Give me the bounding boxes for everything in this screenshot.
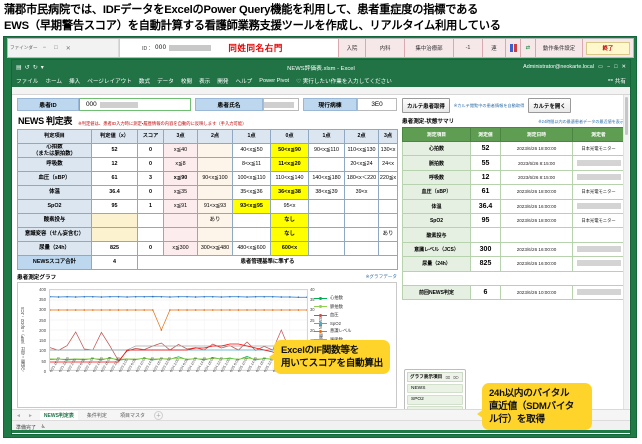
ribbon-tabs: ファイル ホーム 挿入 ページレイアウト 数式 データ 校閲 表示 開発 ヘルプ… xyxy=(12,74,630,87)
summary-cell-datetime: 2023/6/26 18:00:00 xyxy=(501,142,573,156)
summary-cell-datetime: 2023/6/26 8:15:00 xyxy=(501,156,573,170)
legend-label: 血圧 xyxy=(330,312,339,318)
callout-vitals-text: 24h以内のバイタル 直近値（SDMバイタ ル行）を取得 xyxy=(489,388,574,425)
window-close-icon[interactable]: ✕ xyxy=(621,64,626,70)
summary-table-row: 前回NEWS判定62023/6/26 10:00:00 xyxy=(403,285,625,299)
y-tick-left: 300 xyxy=(28,307,46,312)
news-cell-t3b[interactable]: あり xyxy=(379,228,398,242)
settings-button[interactable]: 動作条件設定 xyxy=(536,39,583,57)
news-cell-t2a[interactable]: あり xyxy=(198,214,233,228)
news-table-title-row: NEWS 判定表 ※判定値は、患者ID入力時に測定・履歴情報の内容を自動的に反映… xyxy=(18,114,397,127)
news-cell-t3b[interactable]: 24<x xyxy=(379,158,398,172)
summary-cell-source xyxy=(573,285,625,299)
news-cell-value[interactable]: 95 xyxy=(92,200,138,214)
news-cell-item[interactable]: 呼吸数 xyxy=(18,158,92,172)
masked-source xyxy=(577,246,621,252)
y-tick-left: 150 xyxy=(28,338,46,343)
news-judgement-table: 判定項目 判定値（x） スコア 3点 2点 1点 0点 1点 2点 3点 心拍数… xyxy=(17,129,398,270)
ribbon-tab-page-layout[interactable]: ページレイアウト xyxy=(87,77,132,85)
summary-cell-source xyxy=(573,199,625,213)
news-cell-t3a[interactable]: x≦90 xyxy=(164,172,198,186)
col-3pt-low: 3点 xyxy=(164,130,198,144)
window-restore-icon[interactable]: □ xyxy=(614,64,617,70)
color-swatch-icon xyxy=(506,39,521,57)
patient-id-cell-label: 患者ID xyxy=(17,98,79,111)
titlebar-right: Administrator@neokarte.local ▭ − □ ✕ xyxy=(523,64,626,70)
field-room[interactable]: -1 xyxy=(454,39,483,57)
summary-cell-value: 55 xyxy=(471,156,501,170)
summary-cell-source xyxy=(573,170,625,184)
summary-table-row: 呼吸数122023/6/26 8:15:00 xyxy=(403,170,625,184)
news-cell-t2a[interactable]: 300<x≦480 xyxy=(198,242,233,256)
summary-cell-datetime: 2023/6/26 8:15:00 xyxy=(501,170,573,184)
headline: 蒲郡市民病院では、IDFデータをExcelのPower Query機能を利用して… xyxy=(0,0,642,35)
news-total-label: NEWSスコア合計 xyxy=(18,256,92,270)
summary-cell-datetime: 2023/6/26 16:00:00 xyxy=(501,257,573,271)
sheet-tab-master[interactable]: 項目マスタ xyxy=(116,411,149,420)
news-cell-t2a[interactable] xyxy=(198,186,233,200)
callout-formula: ExcelのIF関数等を 用いてスコアを自動算出 xyxy=(274,340,390,374)
patient-name-value: 同姓同名右門 xyxy=(228,42,283,54)
news-cell-score[interactable]: 0 xyxy=(138,144,164,158)
news-cell-value[interactable]: 12 xyxy=(92,158,138,172)
y-tick-right: 20 xyxy=(310,328,326,333)
summary-table-row: SpO2952023/6/26 18:00:00日本光電モニター xyxy=(403,213,625,227)
news-cell-t2a[interactable]: 91<x≦93 xyxy=(198,200,233,214)
summary-table-row: 体温36.42023/6/26 16:00:00 xyxy=(403,199,625,213)
legend-label: 心拍数 xyxy=(330,295,343,301)
legend-label: SpO2 xyxy=(330,321,341,326)
get-patient-button[interactable]: カルテ患者取得 xyxy=(402,98,450,113)
summary-cell-value: 61 xyxy=(471,185,501,199)
slicer-title: グラフ表示項目 xyxy=(410,374,442,380)
y-tick-left: 0 xyxy=(28,369,46,374)
news-table-row: 体温36.40x≦3535<x≦3636<x≦3838<x≦3939<x xyxy=(18,186,398,200)
news-cell-t1b[interactable] xyxy=(309,242,345,256)
summary-table-row: 脈拍数552023/6/26 8:15:00 xyxy=(403,156,625,170)
headline-line-2: EWS（早期警告スコア）を自動計算する看護師業務支援ツールを作成し、リアルタイム… xyxy=(4,19,638,35)
summary-cell-datetime: 2023/6/26 16:00:00 xyxy=(501,199,573,213)
news-total-note: 患者管理基準に準ずる xyxy=(138,256,398,270)
news-cell-item[interactable]: 体温 xyxy=(18,186,92,200)
summary-cell-source: 日本光電モニター xyxy=(573,213,625,227)
y-tick-right: 35 xyxy=(310,297,326,302)
ribbon-tab-review[interactable]: 校閲 xyxy=(181,77,192,85)
summary-cell-value: 6 xyxy=(471,285,501,299)
patient-name-cell-label: 患者氏名 xyxy=(195,98,263,111)
news-cell-t2b[interactable] xyxy=(345,242,379,256)
slicer-item[interactable]: NEWS xyxy=(407,384,463,394)
news-cell-t3a[interactable] xyxy=(164,228,198,242)
summary-cell-datetime: 2023/6/26 10:00:00 xyxy=(501,285,573,299)
news-cell-item[interactable]: 心拍数（または脈拍数） xyxy=(18,144,92,158)
summary-cell-value: 95 xyxy=(471,213,501,227)
news-total-row: NEWSスコア合計 4 患者管理基準に準ずる xyxy=(18,256,398,270)
graph-note: ※グラフデータ xyxy=(366,274,397,280)
news-cell-t0[interactable]: 600<x xyxy=(271,242,309,256)
news-table-row: 血圧（sBP）613x≦9090<x≦100100<x≦110110<x≦140… xyxy=(18,172,398,186)
news-cell-t2a[interactable] xyxy=(198,144,233,158)
summary-cell-item: 呼吸数 xyxy=(403,170,471,184)
news-cell-t3b[interactable] xyxy=(379,242,398,256)
sheet-nav-next-icon[interactable]: ► xyxy=(28,413,35,419)
redo-icon[interactable]: ↻ xyxy=(33,64,38,71)
headline-line-1: 蒲郡市民病院では、IDFデータをExcelのPower Query機能を利用して… xyxy=(4,3,638,19)
news-cell-t2b[interactable]: 20<x≦24 xyxy=(345,158,379,172)
summary-cell-datetime: 2023/6/26 18:00:00 xyxy=(501,185,573,199)
summary-note: ※24時間以内の最適患者データの最近値を表示 xyxy=(538,119,624,125)
news-total-value: 4 xyxy=(92,256,138,270)
news-cell-t3a[interactable] xyxy=(164,214,198,228)
karte-panel: カルテ患者取得 ※カルテ閲覧中の患者情報を自動取得 カルテを開く 患者測定-状態… xyxy=(402,98,624,300)
ribbon-tab-help[interactable]: ヘルプ xyxy=(235,77,252,85)
summary-cell-value: 825 xyxy=(471,257,501,271)
patient-finder-window: ファインダー − □ ✕ ID： 000 同姓同名右門 入院 内科 集中治療部 … xyxy=(7,38,634,58)
col-2pt-high: 2点 xyxy=(345,130,379,144)
news-cell-value[interactable]: 52 xyxy=(92,144,138,158)
lightbulb-icon: ♡ xyxy=(296,79,301,85)
news-cell-t3b[interactable]: 130<x xyxy=(379,144,398,158)
tell-me-box[interactable]: ♡ 実行したい作業を入力してください xyxy=(296,77,392,85)
summary-col-item: 測定項目 xyxy=(403,128,471,142)
news-cell-t2b[interactable]: 39<x xyxy=(345,186,379,200)
news-cell-t3b[interactable]: 220≦x xyxy=(379,172,398,186)
news-cell-t0[interactable]: 110<x≦140 xyxy=(271,172,309,186)
patient-id-label: ID： xyxy=(142,45,152,52)
ribbon-tab-insert[interactable]: 挿入 xyxy=(69,77,80,85)
news-cell-t2b[interactable] xyxy=(345,200,379,214)
news-table-row: 呼吸数120x≦88<x≦1111<x≦2020<x≦2424<x xyxy=(18,158,398,172)
news-cell-t0[interactable]: 50<x≦90 xyxy=(271,144,309,158)
y-tick-left: 50 xyxy=(28,359,46,364)
summary-cell-item: SpO2 xyxy=(403,213,471,227)
summary-cell-source xyxy=(573,228,625,242)
news-cell-item[interactable]: 尿量（24h） xyxy=(18,242,92,256)
news-cell-t3a[interactable]: x≦35 xyxy=(164,186,198,200)
summary-cell-item: 前回NEWS判定 xyxy=(403,285,471,299)
summary-cell-value: 12 xyxy=(471,170,501,184)
y-axis-title: 心拍数・血圧（sBP）・SpO2・JCS xyxy=(20,307,26,372)
summary-cell-value: 52 xyxy=(471,142,501,156)
legend-label: 脈拍数 xyxy=(330,304,343,310)
news-cell-score[interactable] xyxy=(138,214,164,228)
minimize-icon[interactable]: − xyxy=(40,45,50,51)
share-button[interactable]: ⚯ 共有 xyxy=(608,77,626,85)
legend-swatch xyxy=(314,323,327,324)
col-1pt-high: 1点 xyxy=(309,130,345,144)
summary-cell-value: 36.4 xyxy=(471,199,501,213)
news-cell-item[interactable]: SpO2 xyxy=(18,200,92,214)
col-3pt-high: 3点 xyxy=(379,130,398,144)
summary-cell-source xyxy=(573,257,625,271)
ribbon-tab-file[interactable]: ファイル xyxy=(16,77,38,85)
news-cell-t3a[interactable]: x≦300 xyxy=(164,242,198,256)
field-department[interactable]: 内科 xyxy=(366,39,405,57)
summary-header-row: 測定項目 測定値 測定日時 測定者 xyxy=(403,128,625,142)
news-table-row: SpO2951x≦9191<x≦9393<x≦9595<x xyxy=(18,200,398,214)
sheet-tab-news[interactable]: NEWS判定表 xyxy=(40,411,78,421)
news-cell-value[interactable]: 36.4 xyxy=(92,186,138,200)
quick-access-toolbar[interactable]: ▤ ↺ ↻ ▾ xyxy=(16,64,44,71)
x-axis-ticks: 6/21 18:006/21 22:006/22 2:006/22 6:006/… xyxy=(49,371,308,405)
summary-title: 患者測定-状態サマリ xyxy=(402,117,454,125)
news-table-row: 心拍数（または脈拍数）520x≦4040<x≦5050<x≦9090<x≦110… xyxy=(18,144,398,158)
news-cell-value[interactable] xyxy=(92,228,138,242)
horizontal-scrollbar[interactable] xyxy=(12,430,630,433)
news-cell-item[interactable]: 酸素投与 xyxy=(18,214,92,228)
callout-tail xyxy=(477,409,484,419)
summary-spacer-row xyxy=(403,271,625,285)
news-table-body: 心拍数（または脈拍数）520x≦4040<x≦5050<x≦9090<x≦110… xyxy=(18,144,398,256)
news-cell-t2a[interactable]: 90<x≦100 xyxy=(198,172,233,186)
news-cell-value[interactable] xyxy=(92,214,138,228)
summary-cell-value xyxy=(471,228,501,242)
share-label: 共有 xyxy=(615,77,626,85)
summary-title-row: 患者測定-状態サマリ ※24時間以内の最適患者データの最近値を表示 xyxy=(402,117,624,125)
y-tick-right: 25 xyxy=(310,318,326,323)
sync-icon[interactable]: ⇄ xyxy=(521,39,536,57)
tell-me-label: 実行したい作業を入力してください xyxy=(303,79,392,85)
ribbon-tab-developer[interactable]: 開発 xyxy=(217,77,228,85)
slicer-item[interactable]: SPO2 xyxy=(407,395,463,405)
news-cell-t2a[interactable] xyxy=(198,158,233,172)
patient-id-field[interactable]: ID： 000 同姓同名右門 xyxy=(119,39,338,57)
masked-name xyxy=(264,102,294,108)
news-cell-t3b[interactable] xyxy=(379,186,398,200)
news-cell-score[interactable]: 0 xyxy=(138,186,164,200)
masked-source xyxy=(577,203,621,209)
summary-table-row: 意識レベル（JCS）3002023/6/26 16:00:00 xyxy=(403,242,625,256)
news-cell-t1b[interactable]: 90<x≦110 xyxy=(309,144,345,158)
news-cell-t2b[interactable]: 180<x＜220 xyxy=(345,172,379,186)
get-patient-note: ※カルテ閲覧中の患者情報を自動取得 xyxy=(454,103,525,109)
field-admission[interactable]: 入院 xyxy=(339,39,366,57)
maximize-icon[interactable]: □ xyxy=(51,45,61,51)
news-cell-t1a[interactable]: 35<x≦36 xyxy=(233,186,271,200)
new-sheet-icon[interactable]: ＋ xyxy=(154,411,163,420)
news-cell-t3a[interactable]: x≦8 xyxy=(164,158,198,172)
sheet-nav-prev-icon[interactable]: ◄ xyxy=(16,413,23,419)
news-cell-t2a[interactable] xyxy=(198,228,233,242)
callout-vitals: 24h以内のバイタル 直近値（SDMバイタ ル行）を取得 xyxy=(482,383,592,430)
news-cell-score[interactable]: 3 xyxy=(138,172,164,186)
ribbon-tab-formulas[interactable]: 数式 xyxy=(139,77,150,85)
news-cell-score[interactable]: 0 xyxy=(138,158,164,172)
news-cell-t1b[interactable] xyxy=(309,200,345,214)
patient-header-row: 患者ID 000 患者氏名 現行病棟 3E0 xyxy=(17,98,397,111)
exit-button[interactable]: 終了 xyxy=(586,42,630,55)
summary-cell-item: 意識レベル（JCS） xyxy=(403,242,471,256)
graph-title: 患者測定グラフ xyxy=(17,273,56,281)
finder-titlebar: ファインダー − □ ✕ xyxy=(8,39,119,57)
summary-cell-datetime: 2023/6/26 18:00:00 xyxy=(501,213,573,227)
news-cell-t3a[interactable]: x≦40 xyxy=(164,144,198,158)
summary-col-source: 測定者 xyxy=(573,128,625,142)
news-cell-score[interactable]: 0 xyxy=(138,242,164,256)
news-cell-t2b[interactable] xyxy=(345,228,379,242)
save-icon[interactable]: ▤ xyxy=(16,64,22,71)
slicer-clear-filter-icon[interactable]: ⌧ ⌦ xyxy=(446,375,460,380)
summary-table-row: 酸素投与 xyxy=(403,228,625,242)
ward-cell-value: 3E0 xyxy=(357,98,397,111)
summary-cell-source: 日本光電モニター xyxy=(573,142,625,156)
col-0pt: 0点 xyxy=(271,130,309,144)
measurement-summary-table: 測定項目 測定値 測定日時 測定者 心拍数522023/6/26 18:00:0… xyxy=(402,127,625,300)
summary-cell-source: 日本光電モニター xyxy=(573,185,625,199)
summary-cell-item: 脈拍数 xyxy=(403,156,471,170)
callout-tail xyxy=(269,352,276,362)
worksheet-area: 患者ID 000 患者氏名 現行病棟 3E0 NEWS 判定表 ※判定値は、患者… xyxy=(12,95,630,433)
patient-id-cell-value: 000 xyxy=(86,101,97,108)
masked-source xyxy=(577,260,621,266)
window-minimize-icon[interactable]: − xyxy=(607,64,610,70)
summary-table-row: 血圧（sBP）612023/6/26 18:00:00日本光電モニター xyxy=(403,185,625,199)
karte-button-row: カルテ患者取得 ※カルテ閲覧中の患者情報を自動取得 カルテを開く xyxy=(402,98,624,113)
news-cell-t0[interactable]: なし xyxy=(271,214,309,228)
news-table-note: ※判定値は、患者ID入力時に測定・履歴情報の内容を自動的に反映します（手入力可能… xyxy=(78,121,246,127)
undo-icon[interactable]: ↺ xyxy=(25,64,30,71)
field-renkei[interactable]: 連 xyxy=(483,39,506,57)
summary-table-body: 心拍数522023/6/26 18:00:00日本光電モニター脈拍数552023… xyxy=(403,142,625,300)
news-cell-t1a[interactable]: 8<x≦11 xyxy=(233,158,271,172)
y-tick-left: 100 xyxy=(28,348,46,353)
news-cell-t0[interactable]: 11<x≦20 xyxy=(271,158,309,172)
summary-cell-datetime xyxy=(501,228,573,242)
summary-cell-datetime: 2023/6/26 16:00:00 xyxy=(501,242,573,256)
news-cell-t1a[interactable]: 100<x≦110 xyxy=(233,172,271,186)
news-cell-score[interactable]: 1 xyxy=(138,200,164,214)
news-cell-t1b[interactable] xyxy=(309,228,345,242)
summary-col-value: 測定値 xyxy=(471,128,501,142)
news-cell-t2b[interactable] xyxy=(345,214,379,228)
close-icon[interactable]: ✕ xyxy=(63,45,74,52)
news-cell-value[interactable]: 825 xyxy=(92,242,138,256)
news-cell-t1a[interactable]: 40<x≦50 xyxy=(233,144,271,158)
summary-cell-item: 体温 xyxy=(403,199,471,213)
news-cell-t3b[interactable] xyxy=(379,214,398,228)
col-score: スコア xyxy=(138,130,164,144)
formula-bar[interactable] xyxy=(12,87,630,95)
customize-qat-icon[interactable]: ▾ xyxy=(41,64,44,71)
legend-swatch xyxy=(314,315,327,316)
news-cell-t1b[interactable]: 38<x≦39 xyxy=(309,186,345,200)
patient-id-value: 000 xyxy=(155,45,166,51)
patient-name-cell-input[interactable] xyxy=(263,98,299,111)
summary-table-row: 心拍数522023/6/26 18:00:00日本光電モニター xyxy=(403,142,625,156)
news-cell-t1a[interactable]: 93<x≦95 xyxy=(233,200,271,214)
news-cell-t2b[interactable]: 110<x≦130 xyxy=(345,144,379,158)
y-tick-left: 200 xyxy=(28,328,46,333)
summary-table-row: 尿量（24h）8252023/6/26 16:00:00 xyxy=(403,257,625,271)
summary-cell-source xyxy=(573,156,625,170)
news-table-row: 酸素投与ありなし xyxy=(18,214,398,228)
share-icon: ⚯ xyxy=(608,78,613,84)
summary-cell-value: 300 xyxy=(471,242,501,256)
y-tick-left: 250 xyxy=(28,318,46,323)
col-value: 判定値（x） xyxy=(92,130,138,144)
ribbon-tab-data[interactable]: データ xyxy=(157,77,174,85)
news-cell-t1b[interactable] xyxy=(309,158,345,172)
news-cell-score[interactable] xyxy=(138,228,164,242)
field-ward[interactable]: 集中治療部 xyxy=(405,39,454,57)
news-cell-t1a[interactable] xyxy=(233,228,271,242)
ribbon-tab-power-pivot[interactable]: Power Pivot xyxy=(259,78,289,84)
ward-cell-label: 現行病棟 xyxy=(303,98,357,111)
summary-cell-source xyxy=(573,242,625,256)
masked-source xyxy=(577,174,621,180)
masked-id xyxy=(169,45,211,51)
legend-label: 意識レベル xyxy=(330,328,351,334)
sheet-tab-conditions[interactable]: 条件判定 xyxy=(83,411,111,420)
slicer-header: グラフ表示項目 ⌧ ⌦ xyxy=(407,372,463,382)
y-tick-right: 40 xyxy=(310,287,326,292)
excel-titlebar: ▤ ↺ ↻ ▾ NEWS評価表.xlsm - Excel Administrat… xyxy=(12,60,630,74)
news-cell-t0[interactable]: 95<x xyxy=(271,200,309,214)
y-tick-left: 400 xyxy=(28,287,46,292)
summary-cell-item: 酸素投与 xyxy=(403,228,471,242)
news-cell-t3a[interactable]: x≦91 xyxy=(164,200,198,214)
masked-value xyxy=(100,102,138,108)
graph-title-row: 患者測定グラフ ※グラフデータ xyxy=(17,273,397,281)
spacer xyxy=(403,271,625,285)
news-cell-t1b[interactable]: 140<x≦180 xyxy=(309,172,345,186)
news-table-header-row: 判定項目 判定値（x） スコア 3点 2点 1点 0点 1点 2点 3点 xyxy=(18,130,398,144)
ribbon-tab-home[interactable]: ホーム xyxy=(45,77,62,85)
y-tick-right: 30 xyxy=(310,307,326,312)
summary-cell-item: 血圧（sBP） xyxy=(403,185,471,199)
patient-attribute-bar: 入院 内科 集中治療部 -1 連 ⇄ 動作条件設定 終了 xyxy=(338,39,633,57)
news-table-row: 意識変容（せん妄含む）なしあり xyxy=(18,228,398,242)
excel-window: ▤ ↺ ↻ ▾ NEWS評価表.xlsm - Excel Administrat… xyxy=(11,59,631,435)
news-table-row: 尿量（24h）8250x≦300300<x≦480480<x≦600600<x xyxy=(18,242,398,256)
scrollbar-thumb[interactable] xyxy=(625,97,629,135)
col-2pt-low: 2点 xyxy=(198,130,233,144)
patient-id-cell-input[interactable]: 000 xyxy=(79,98,191,111)
news-table-title: NEWS 判定表 xyxy=(18,114,72,127)
news-cell-item[interactable]: 血圧（sBP） xyxy=(18,172,92,186)
news-cell-t1b[interactable] xyxy=(309,214,345,228)
news-cell-t1a[interactable] xyxy=(233,214,271,228)
news-cell-value[interactable]: 61 xyxy=(92,172,138,186)
vertical-scrollbar[interactable] xyxy=(623,95,629,433)
summary-cell-item: 心拍数 xyxy=(403,142,471,156)
news-cell-item[interactable]: 意識変容（せん妄含む） xyxy=(18,228,92,242)
ribbon-display-icon[interactable]: ▭ xyxy=(598,64,603,70)
news-cell-t3b[interactable] xyxy=(379,200,398,214)
col-item: 判定項目 xyxy=(18,130,92,144)
account-name[interactable]: Administrator@neokarte.local xyxy=(523,64,594,70)
summary-cell-item: 尿量（24h） xyxy=(403,257,471,271)
masked-source xyxy=(577,289,621,295)
ribbon-tab-view[interactable]: 表示 xyxy=(199,77,210,85)
summary-col-datetime: 測定日時 xyxy=(501,128,573,142)
y-tick-left: 350 xyxy=(28,297,46,302)
masked-source xyxy=(577,160,621,166)
news-cell-t1a[interactable]: 480<x≦600 xyxy=(233,242,271,256)
callout-formula-text: ExcelのIF関数等を 用いてスコアを自動算出 xyxy=(281,345,383,369)
application-window: ファインダー − □ ✕ ID： 000 同姓同名右門 入院 内科 集中治療部 … xyxy=(3,36,637,438)
open-karte-button[interactable]: カルテを開く xyxy=(528,98,570,113)
news-cell-t0[interactable]: 36<x≦38 xyxy=(271,186,309,200)
finder-title: ファインダー xyxy=(10,45,38,51)
col-1pt-low: 1点 xyxy=(233,130,271,144)
news-cell-t0[interactable]: なし xyxy=(271,228,309,242)
